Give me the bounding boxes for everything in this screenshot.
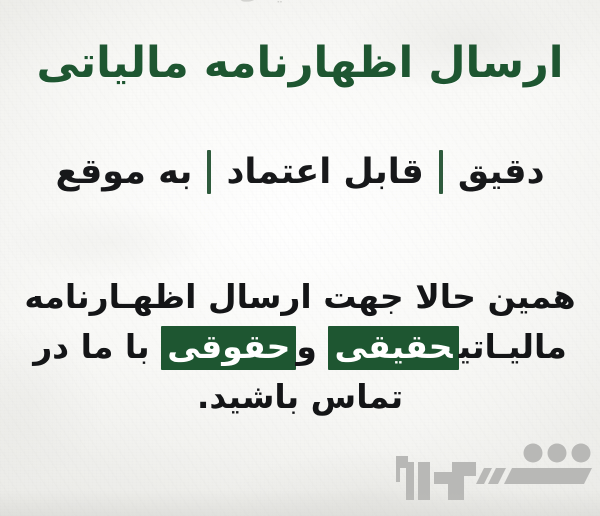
body-line-3: تماس باشید.: [197, 377, 403, 416]
tagline-item-2: قابل اعتماد: [226, 151, 423, 193]
watermark-glyph-2: [406, 462, 414, 500]
watermark-slanted-bar: [504, 468, 592, 484]
highlight-haghighi: حقیقی: [328, 326, 458, 370]
tagline-row: دقیق قابل اعتماد به موقع: [0, 150, 600, 194]
watermark-bar-group: [476, 468, 592, 484]
body-line-2-before: مالیـاتی: [459, 327, 567, 366]
watermark-glyph-4: [434, 462, 476, 500]
watermark-numerals-group: [396, 456, 476, 500]
highlight-hoghooghi: حقوقی: [161, 326, 296, 370]
tagline-item-1: دقیق: [458, 151, 545, 193]
watermark-dots-group: [524, 444, 591, 463]
body-copy: همین حالا جهت ارسال اظهـارنامه مالیـاتیح…: [14, 272, 586, 422]
tagline-separator-bar-2: [207, 150, 211, 194]
watermark-glyph-1: [396, 456, 408, 482]
watermark-glyph-3: [418, 462, 430, 500]
bottom-edge-shading: [0, 490, 600, 516]
body-line-1: همین حالا جهت ارسال اظهـارنامه: [24, 277, 575, 316]
watermark-dot-2: [548, 444, 567, 463]
watermark-logo: [396, 442, 592, 504]
body-conjunction: و: [296, 327, 317, 366]
body-line-2-after: با ما در: [33, 327, 150, 366]
page-title: ارسال اظهارنامه مالیاتی: [0, 38, 600, 89]
top-clipped-text-label: نامه مالیاتی: [238, 0, 361, 3]
watermark-slash-2: [476, 468, 492, 484]
watermark-dot-1: [524, 444, 543, 463]
tagline-item-3: به موقع: [55, 151, 192, 193]
poster-canvas: نامه مالیاتی ارسال اظهارنامه مالیاتی دقی…: [0, 0, 600, 516]
watermark-slash-1: [488, 468, 506, 484]
watermark-dot-3: [572, 444, 591, 463]
top-clipped-text: نامه مالیاتی: [0, 0, 600, 12]
tagline-separator-bar-1: [439, 150, 443, 194]
